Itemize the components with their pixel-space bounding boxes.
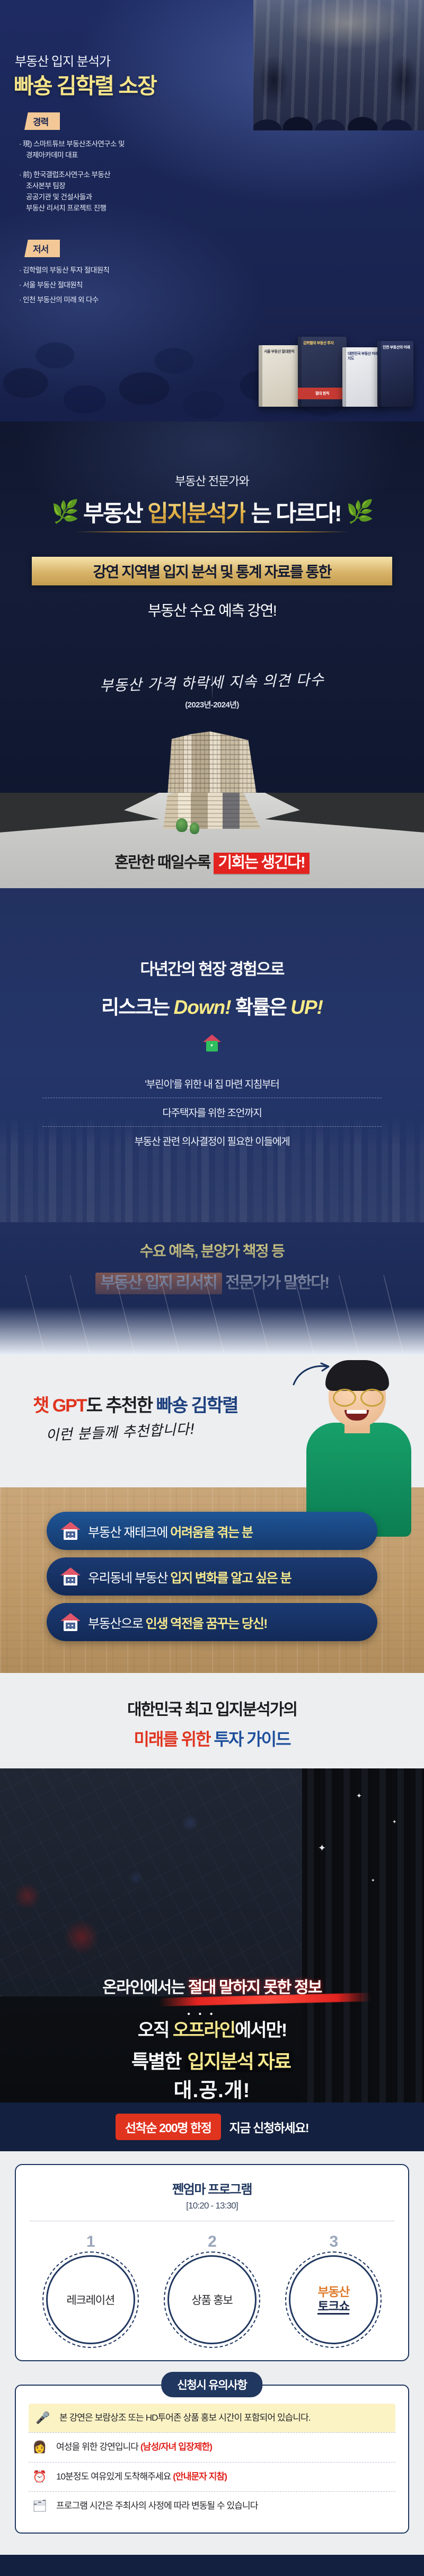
program-divider	[30, 2221, 394, 2221]
star-icon: ✦	[356, 1792, 362, 1800]
laurel-right-icon: 🌿	[346, 501, 373, 523]
book-item-2: · 서울 부동산 절대원칙	[19, 280, 83, 291]
recommendation-title: 챗 GPT도 추천한 빠숑 김학렬	[33, 1391, 238, 1417]
program-steps: 1 레크레이션 2 상품 홍보 3 부동산 토크쇼	[30, 2233, 394, 2344]
section2-main-title: 🌿 부동산 입지분석가는 다르다! 🌿	[0, 495, 424, 528]
limited-seats-badge: 선착순 200명 한정	[116, 2114, 221, 2140]
apartment-illustration	[162, 730, 262, 793]
step-number: 2	[159, 2233, 265, 2251]
microphone-icon: 🎤	[34, 2411, 52, 2425]
experience-line1: 다년간의 현장 경험으로	[0, 888, 424, 979]
apply-now-label[interactable]: 지금 신청하세요!	[229, 2118, 309, 2136]
book-cover-2: 김학렬의 부동산 투자 절대 원칙	[298, 337, 347, 407]
laurel-left-icon: 🌿	[51, 501, 78, 523]
experience-section: 다년간의 현장 경험으로 리스크는 Down! 확률은 UP! ♥ '부린이'를…	[0, 888, 424, 1355]
notice-row-3: ⏰ 10분정도 여유있게 도착해주세요 (안내문자 지참)	[29, 2462, 395, 2491]
notice-section: 신청시 유의사항 🎤 본 강연은 보람상조 또는 HD투어존 상품 홍보 시간이…	[0, 2379, 424, 2555]
house-heart-icon: ♥	[203, 1035, 221, 1052]
section2-goldbar: 강연 지역별 입지 분석 및 통계 자료를 통한	[32, 557, 392, 585]
section2-subtitle: 부동산 전문가와	[0, 422, 424, 489]
recommend-pill-1[interactable]: 부동산 재테크에 어려움을 겪는 분	[47, 1512, 377, 1550]
woman-icon: 👩	[31, 2440, 49, 2454]
section2-years: (2023년-2024년)	[0, 699, 424, 710]
star-icon: ✦	[392, 1819, 396, 1825]
promo-page: 부동산 입지 분석가 빠숑 김학렬 소장 경력 · 現) 스마트튜브 부동산조사…	[0, 0, 424, 2576]
offline-emphasis-1: 절대 말하지 못한 정보	[188, 1979, 322, 1996]
step-label: 상품 홍보	[191, 2292, 232, 2308]
book-item-1: · 김학렬의 부동산 투자 절대원칙	[19, 265, 109, 276]
guide-line2: 미래를 위한 투자 가이드	[0, 1726, 424, 1750]
footer-bar	[0, 2555, 424, 2576]
tree-icon	[190, 822, 199, 834]
hero-name: 빠숑 김학렬 소장	[14, 68, 156, 100]
hero-eyebrow: 부동산 입지 분석가	[15, 51, 110, 69]
book-covers: 서울 부동산 절대원칙 김학렬의 부동산 투자 절대 원칙 대한민국 부동산 미…	[258, 322, 414, 407]
notice-chip: 신청시 유의사항	[161, 2372, 262, 2397]
presentation-icon: 🗂	[31, 2499, 49, 2513]
book-cover-3: 대한민국 부동산 미래지도	[342, 347, 382, 407]
notice-row-1: 🎤 본 강연은 보람상조 또는 HD투어존 상품 홍보 시간이 포함되어 있습니…	[29, 2404, 395, 2432]
step-label-bottom: 토크쇼	[317, 2299, 349, 2315]
seminar-photo	[253, 0, 424, 130]
notice-row-2: 👩 여성을 위한 강연입니다 (남성/자녀 입장제한)	[29, 2432, 395, 2461]
down-label: Down!	[174, 996, 231, 1018]
city-skyline-background	[0, 1116, 424, 1222]
program-header: 쩬엄마 프로그램 [10:20 - 13:30]	[30, 2179, 394, 2211]
program-step-1: 1 레크레이션	[38, 2233, 144, 2344]
program-step-3: 3 부동산 토크쇼	[280, 2233, 386, 2344]
house-icon	[60, 1522, 81, 1540]
offline-only-section: ✦ ✦ ✦ ✦ 온라인에서는 절대 말하지 못한 정보 오직 오프라인에서만! …	[0, 1768, 424, 2102]
step-label: 레크레이션	[66, 2292, 114, 2308]
recommendation-section: 챗 GPT도 추천한 빠숑 김학렬 이런 분들께 추천합니다! 부동산 재테크에…	[0, 1355, 424, 1673]
step-oval: 부동산 토크쇼	[289, 2255, 378, 2344]
section2-line2: 부동산 수요 예측 강연!	[0, 599, 424, 620]
offline-line4: 대.공.개!	[0, 2074, 424, 2102]
recommendation-handwriting: 이런 분들께 추천합니다!	[45, 1417, 196, 1444]
house-icon	[60, 1613, 81, 1631]
offline-line2: 오직 오프라인에서만!	[0, 2016, 424, 2041]
program-step-2: 2 상품 홍보	[159, 2233, 265, 2344]
step-label-top: 부동산	[317, 2285, 349, 2299]
opportunity-headline: 혼란한 때일수록기회는 생긴다!	[0, 850, 424, 872]
step-number: 1	[38, 2233, 144, 2251]
offline-emphasis-3: 입지분석 자료	[185, 2051, 293, 2072]
step-oval: 레크레이션	[46, 2255, 135, 2344]
map-background	[0, 1768, 339, 1996]
offline-emphasis-2: 오프라인	[173, 2020, 235, 2040]
crack-right	[265, 793, 424, 834]
book-cover-1: 서울 부동산 절대원칙	[259, 345, 303, 407]
star-icon: ✦	[318, 1843, 326, 1854]
books-tag: 저서	[24, 240, 60, 257]
guide-emphasis: 미래를 위한	[134, 1730, 210, 1749]
notice-box: 🎤 본 강연은 보람상조 또는 HD투어존 상품 홍보 시간이 포함되어 있습니…	[15, 2385, 409, 2534]
speaker-portrait	[303, 1359, 414, 1534]
house-icon	[60, 1567, 81, 1585]
gold-rule	[74, 531, 350, 532]
floor-perspective	[0, 1228, 424, 1355]
hero-section: 부동산 입지 분석가 빠숑 김학렬 소장 경력 · 現) 스마트튜브 부동산조사…	[0, 0, 424, 422]
guide-line1: 대한민국 최고 입지분석가의	[0, 1673, 424, 1720]
glasses-icon	[333, 1389, 384, 1404]
expert-difference-section: 부동산 전문가와 🌿 부동산 입지분석가는 다르다! 🌿 강연 지역별 입지 분…	[0, 422, 424, 793]
program-time: [10:20 - 13:30]	[30, 2201, 394, 2211]
experience-line2: 리스크는 Down! 확률은 UP!	[0, 991, 424, 1020]
apartment-mini-illustration	[159, 793, 265, 829]
tree-icon	[176, 818, 188, 832]
opportunity-emphasis: 기회는 생긴다!	[214, 853, 310, 874]
career-item-1: · 現) 스마트튜브 부동산조사연구소 및 경제아카데미 대표	[19, 139, 125, 161]
career-item-2: · 前) 한국갤럽조사연구소 부동산 조사본부 팀장 공공기관 및 건설사들과 …	[19, 170, 110, 214]
opportunity-section: 혼란한 때일수록기회는 생긴다!	[0, 793, 424, 888]
star-icon: ✦	[371, 1878, 375, 1883]
recommend-pill-3[interactable]: 부동산으로 인생 역전을 꿈꾸는 당신!	[47, 1603, 377, 1641]
program-title: 쩬엄마 프로그램	[30, 2179, 394, 2197]
notice-wrapper: 신청시 유의사항 🎤 본 강연은 보람상조 또는 HD투어존 상품 홍보 시간이…	[15, 2385, 409, 2534]
step-number: 3	[280, 2233, 386, 2251]
cta-section[interactable]: 선착순 200명 한정 지금 신청하세요!	[0, 2102, 424, 2151]
experience-bullet: '부린이'를 위한 내 집 마련 지침부터	[42, 1070, 382, 1098]
recommend-pill-2[interactable]: 우리동네 부동산 입지 변화를 알고 싶은 분	[47, 1557, 377, 1596]
up-label: UP!	[290, 996, 323, 1018]
step-oval: 상품 홍보	[167, 2255, 257, 2344]
guide-section: 대한민국 최고 입지분석가의 미래를 위한 투자 가이드	[0, 1673, 424, 1768]
book-item-3: · 인천 부동산의 미래 외 다수	[19, 295, 99, 306]
book-cover-4: 인천 부동산의 미래	[377, 341, 413, 407]
alarm-clock-icon: ⏰	[31, 2470, 49, 2484]
offline-line3: 특별한 입지분석 자료	[0, 2046, 424, 2074]
career-tag: 경력	[24, 112, 60, 130]
notice-row-4: 🗂 프로그램 시간은 주최사의 사정에 따라 변동될 수 있습니다	[29, 2491, 395, 2520]
crack-left	[0, 793, 159, 834]
tag-slash-icon	[16, 112, 25, 130]
program-card: 쩬엄마 프로그램 [10:20 - 13:30] 1 레크레이션 2 상품 홍보…	[15, 2164, 409, 2361]
program-section: 쩬엄마 프로그램 [10:20 - 13:30] 1 레크레이션 2 상품 홍보…	[0, 2151, 424, 2379]
